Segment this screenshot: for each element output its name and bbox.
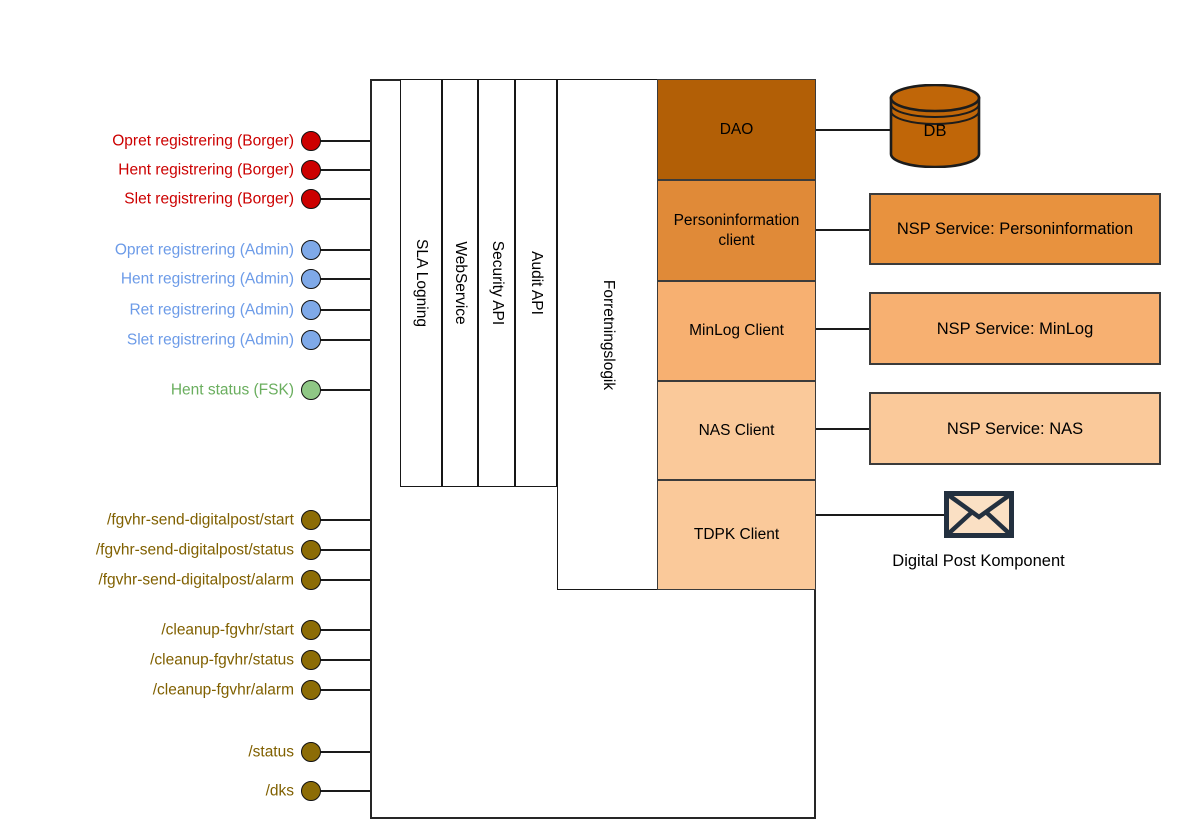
endpoint-label-borger-1: Hent registrering (Borger) [118,161,294,180]
connector-rest-6 [318,751,372,753]
endpoint-label-borger-0: Opret registrering (Borger) [112,132,294,151]
connector-rest-3 [318,629,372,631]
connector-admin-2 [318,309,372,311]
connector-rest-2 [318,579,372,581]
endpoint-label-fsk-0: Hent status (FSK) [171,381,294,400]
endpoint-label-rest-2: /fgvhr-send-digitalpost/alarm [98,571,294,590]
connector-rest-7 [318,790,372,792]
endpoint-dot-admin-0[interactable] [301,240,321,260]
endpoint-label-rest-3: /cleanup-fgvhr/start [161,621,294,640]
nsp-service-nsp-service-minlog: NSP Service: MinLog [869,292,1161,365]
endpoint-dot-rest-5[interactable] [301,680,321,700]
endpoint-label-admin-1: Hent registrering (Admin) [121,270,294,289]
endpoint-dot-rest-7[interactable] [301,781,321,801]
api-column-label-2: Security API [488,241,506,325]
endpoint-label-rest-6: /status [248,743,294,762]
endpoint-dot-admin-3[interactable] [301,330,321,350]
forretningslogik-box: Forretningslogik [557,79,658,590]
endpoint-label-admin-3: Slet registrering (Admin) [127,331,294,350]
api-column-label-0: SLA Logning [412,239,430,327]
envelope-icon [944,491,1014,538]
endpoint-dot-rest-4[interactable] [301,650,321,670]
connector-personinfo-nsp [816,229,870,231]
api-column-security-api: Security API [478,79,515,487]
client-box-nas-client: NAS Client [657,381,816,480]
diagram-canvas: Opret registrering (Borger)Hent registre… [0,0,1180,840]
client-box-tdpk-client: TDPK Client [657,480,816,590]
client-box-dao: DAO [657,79,816,180]
endpoint-label-borger-2: Slet registrering (Borger) [124,190,294,209]
db-cylinder: DB [889,84,981,168]
api-column-sla-logning: SLA Logning [400,79,442,487]
connector-tdpk-digitalpost [816,514,945,516]
connector-rest-4 [318,659,372,661]
endpoint-label-rest-7: /dks [266,782,294,801]
api-column-label-3: Audit API [527,251,545,315]
connector-fsk-0 [318,389,372,391]
db-label: DB [889,122,981,141]
endpoint-dot-admin-1[interactable] [301,269,321,289]
endpoint-label-admin-2: Ret registrering (Admin) [129,301,294,320]
api-column-audit-api: Audit API [515,79,557,487]
endpoint-dot-admin-2[interactable] [301,300,321,320]
nsp-service-nsp-service-personinformation: NSP Service: Personinformation [869,193,1161,265]
connector-rest-5 [318,689,372,691]
connector-rest-0 [318,519,372,521]
nsp-service-nsp-service-nas: NSP Service: NAS [869,392,1161,465]
endpoint-dot-borger-0[interactable] [301,131,321,151]
endpoint-dot-borger-2[interactable] [301,189,321,209]
client-box-minlog-client: MinLog Client [657,281,816,381]
endpoint-label-rest-5: /cleanup-fgvhr/alarm [153,681,294,700]
endpoint-dot-borger-1[interactable] [301,160,321,180]
endpoint-dot-rest-6[interactable] [301,742,321,762]
endpoint-dot-rest-0[interactable] [301,510,321,530]
api-column-label-1: WebService [451,241,469,324]
endpoint-dot-rest-2[interactable] [301,570,321,590]
api-column-webservice: WebService [442,79,478,487]
forretningslogik-label: Forretningslogik [599,279,617,389]
connector-admin-1 [318,278,372,280]
client-box-personinformation-client: Personinformation client [657,180,816,281]
connector-rest-1 [318,549,372,551]
digital-post-caption: Digital Post Komponent [840,552,1117,571]
connector-dao-db [816,129,890,131]
endpoint-label-admin-0: Opret registrering (Admin) [115,241,294,260]
endpoint-dot-rest-1[interactable] [301,540,321,560]
connector-borger-0 [318,140,372,142]
connector-nas-nsp [816,428,870,430]
connector-borger-2 [318,198,372,200]
endpoint-label-rest-4: /cleanup-fgvhr/status [150,651,294,670]
endpoint-dot-rest-3[interactable] [301,620,321,640]
digital-post-envelope [944,491,1014,538]
endpoint-label-rest-1: /fgvhr-send-digitalpost/status [96,541,294,560]
connector-minlog-nsp [816,328,870,330]
connector-admin-0 [318,249,372,251]
endpoint-label-rest-0: /fgvhr-send-digitalpost/start [107,511,294,530]
connector-admin-3 [318,339,372,341]
endpoint-dot-fsk-0[interactable] [301,380,321,400]
connector-borger-1 [318,169,372,171]
